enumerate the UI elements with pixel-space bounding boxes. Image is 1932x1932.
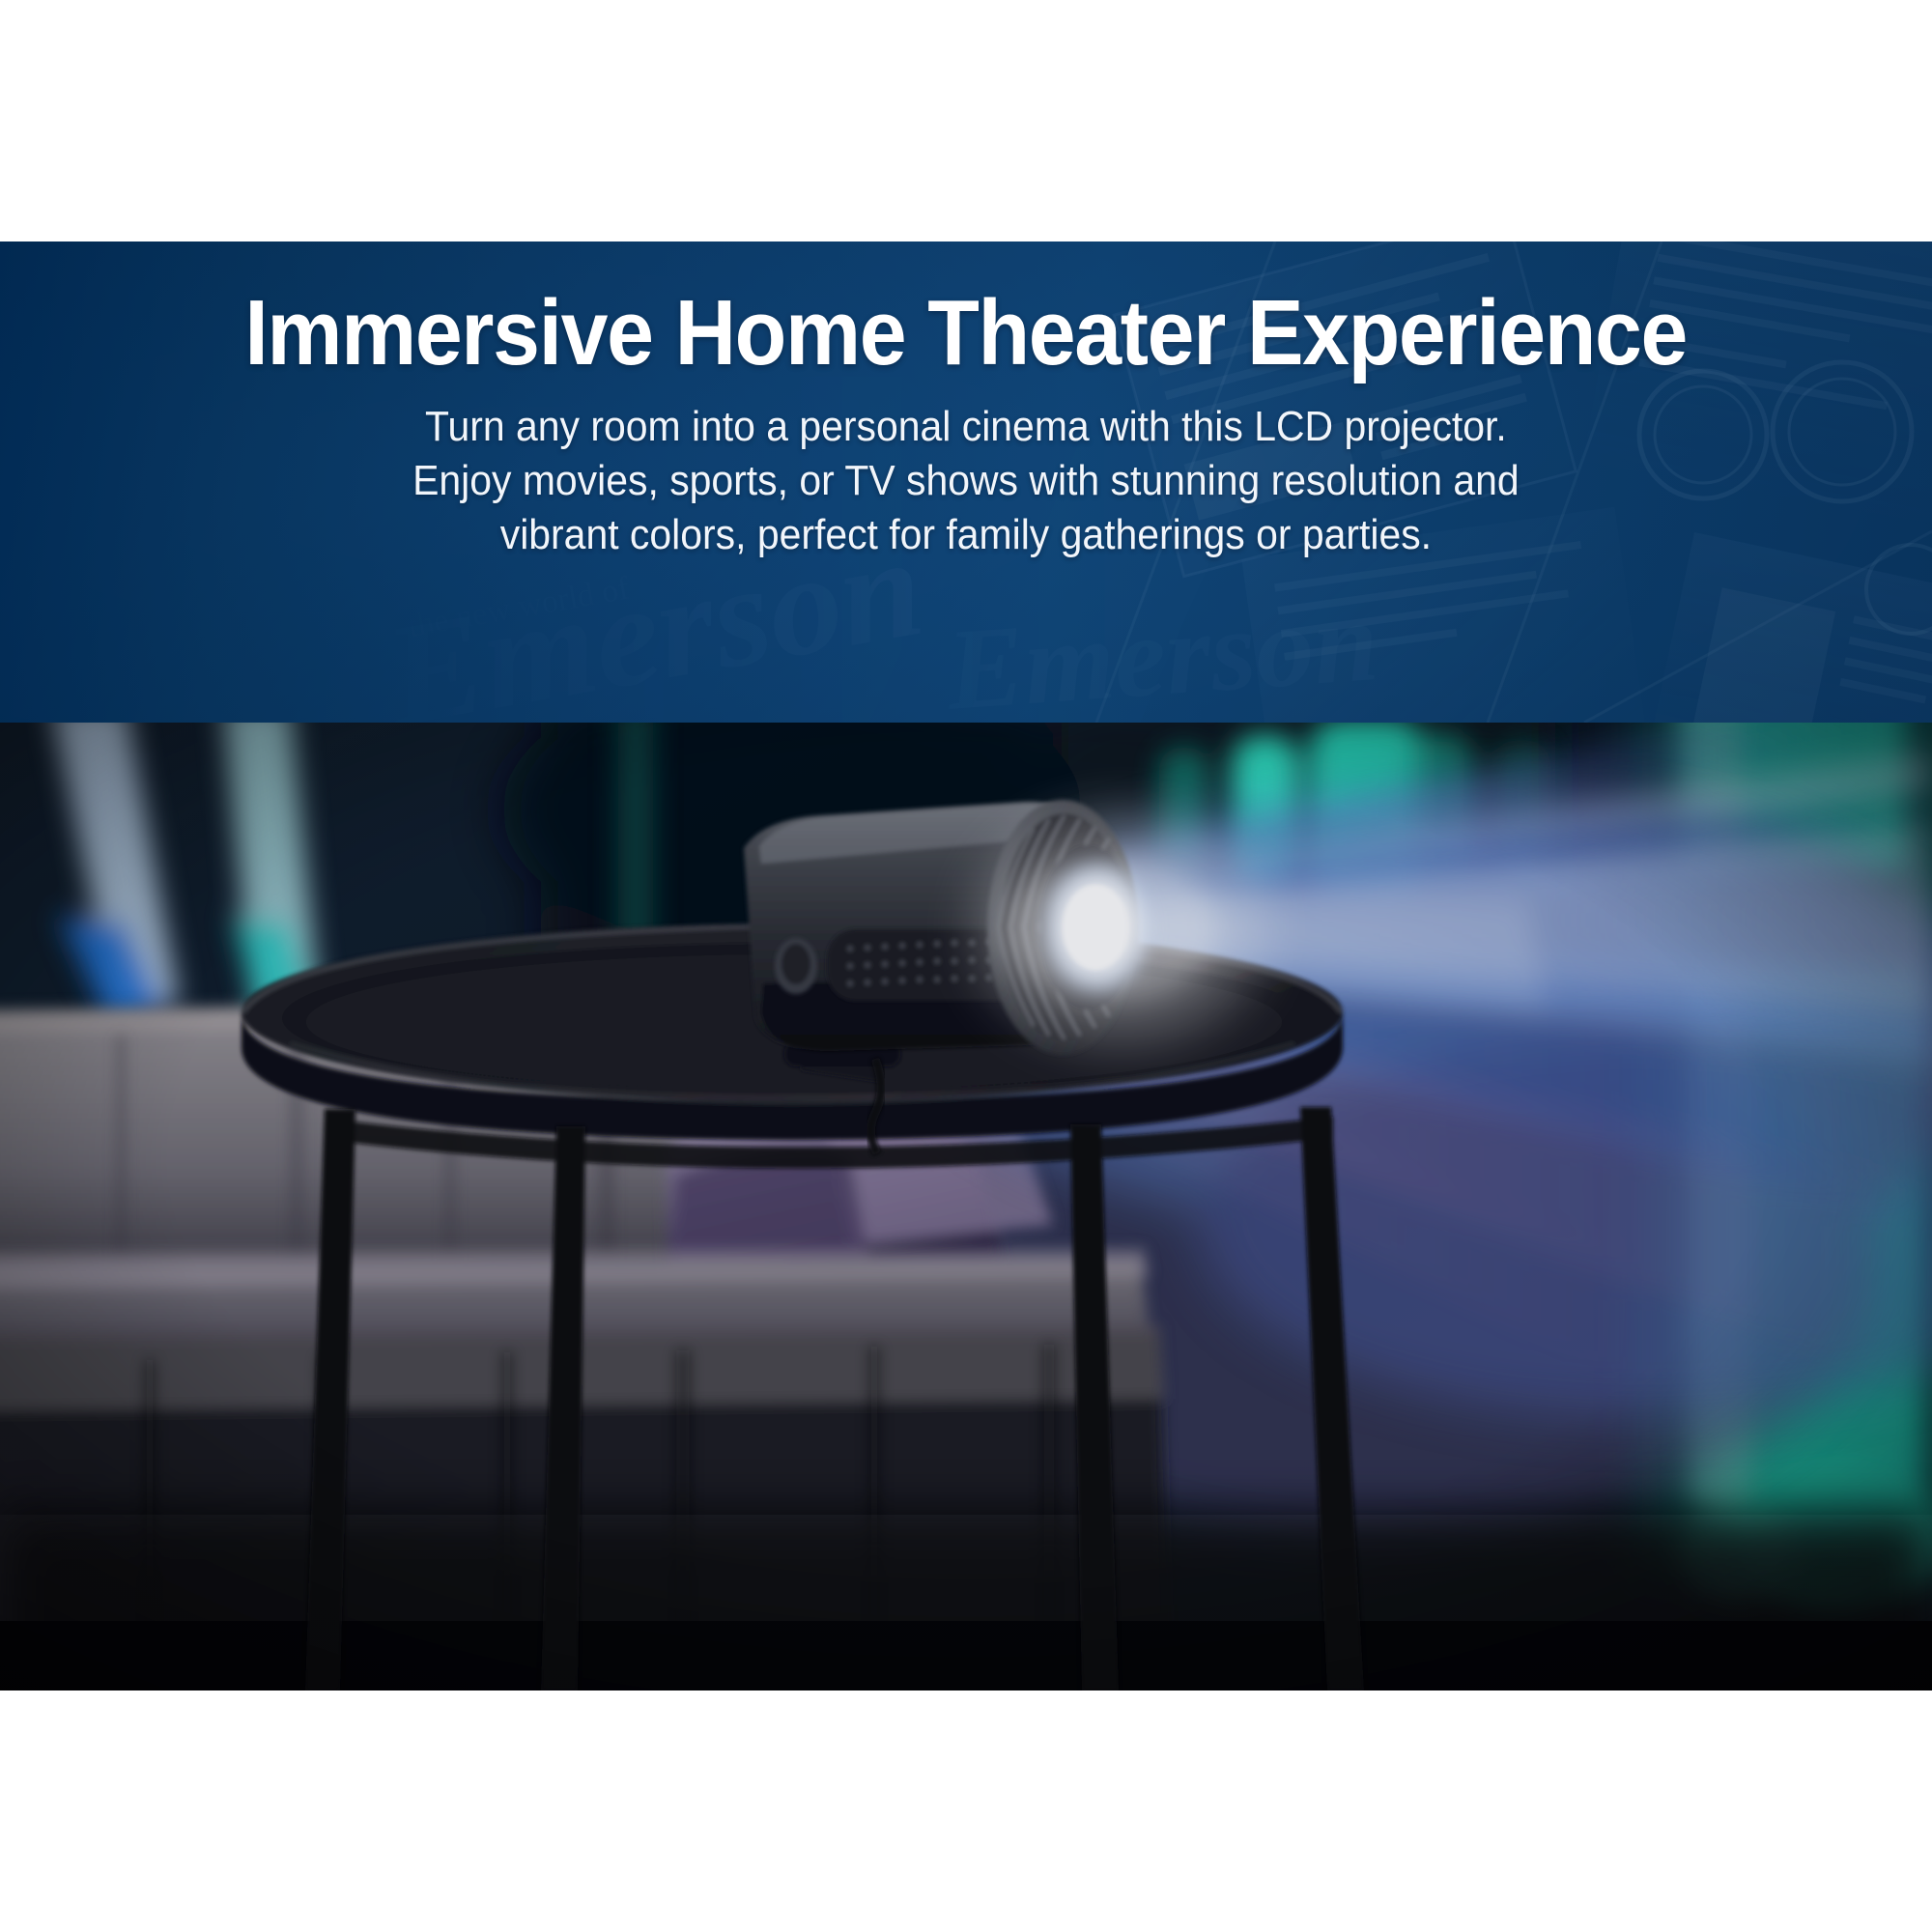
hero-subtitle-line-2: Enjoy movies, sports, or TV shows with s… <box>412 454 1520 508</box>
page-title: Immersive Home Theater Experience <box>245 286 1688 381</box>
hero-content: Immersive Home Theater Experience Turn a… <box>0 241 1932 723</box>
product-lifestyle-photo: Portable LCD projector on a round black … <box>0 723 1932 1690</box>
hero-subtitle-line-1: Turn any room into a personal cinema wit… <box>412 400 1520 454</box>
product-feature-page: Emerson the new world of Emerson Immersi… <box>0 0 1932 1932</box>
hero-subtitle-line-3: vibrant colors, perfect for family gathe… <box>412 508 1520 562</box>
hero-subtitle: Turn any room into a personal cinema wit… <box>412 400 1520 562</box>
hero-banner: Emerson the new world of Emerson Immersi… <box>0 241 1932 723</box>
